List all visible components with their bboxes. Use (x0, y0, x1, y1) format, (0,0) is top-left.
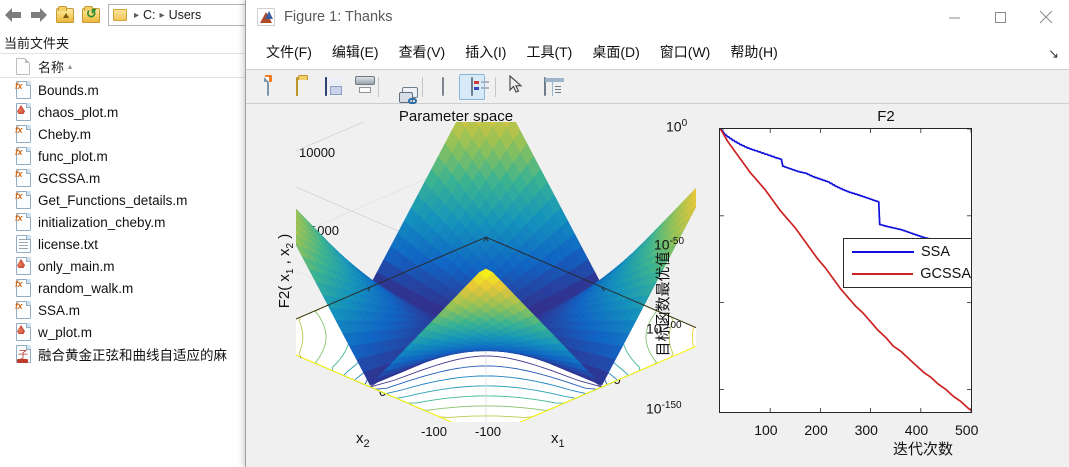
figure-menu-bar: 文件(F)编辑(E)查看(V)插入(I)工具(T)桌面(D)窗口(W)帮助(H)… (246, 34, 1069, 70)
figure-canvas: Parameter space F2( x1 , x2 ) 10000 5000… (246, 104, 1069, 467)
file-name: initialization_cheby.m (38, 215, 165, 230)
legend-entry-ssa: SSA (844, 241, 971, 263)
property-inspector-button[interactable] (532, 74, 558, 100)
matlab-logo-icon (257, 8, 275, 26)
file-name: GCSSA.m (38, 171, 100, 186)
pointer-arrow-icon (509, 75, 523, 99)
list-item[interactable]: license.txt (0, 233, 245, 255)
colorbar-icon (442, 78, 444, 96)
list-item[interactable]: initialization_cheby.m (0, 211, 245, 233)
convergence-title: F2 (716, 108, 1056, 125)
save-figure-button[interactable] (313, 74, 339, 100)
matlab-function-file-icon (16, 81, 31, 99)
surface-zlabel: F2( x1 , x2 ) (276, 176, 296, 366)
list-item[interactable]: func_plot.m (0, 145, 245, 167)
file-name: func_plot.m (38, 149, 108, 164)
refresh-folder-icon[interactable] (78, 2, 104, 28)
file-name: license.txt (38, 237, 98, 252)
list-item[interactable]: chaos_plot.m (0, 101, 245, 123)
matlab-script-file-icon (16, 103, 31, 121)
convergence-xtick-200: 200 (804, 422, 827, 438)
convergence-xlabel: 迭代次数 (818, 438, 1028, 459)
minimize-icon[interactable] (931, 0, 977, 34)
list-item[interactable]: Get_Functions_details.m (0, 189, 245, 211)
toolbar-separator (495, 77, 496, 97)
file-name: only_main.m (38, 259, 115, 274)
list-item[interactable]: only_main.m (0, 255, 245, 277)
list-item[interactable]: 融合黄金正弦和曲线自适应的麻 (0, 343, 245, 365)
file-page-icon (16, 58, 30, 75)
matlab-figure-window: Figure 1: Thanks 文件(F)编辑(E)查看(V)插入(I)工具(… (245, 0, 1069, 467)
open-folder-icon (296, 78, 298, 96)
convergence-xtick-100: 100 (754, 422, 777, 438)
toolbar-separator (422, 77, 423, 97)
forward-arrow-icon[interactable] (26, 2, 52, 28)
legend-entry-gcssa: GCSSA (844, 263, 971, 285)
legend-label-ssa: SSA (921, 244, 950, 260)
convergence-ytick--50: 10-50 (654, 236, 684, 253)
convergence-legend[interactable]: SSA GCSSA (843, 238, 972, 288)
file-explorer-window: ▸ C: ▸ Users 当前文件夹 名称 ▴ Bounds.mchaos_pl… (0, 0, 260, 467)
breadcrumb-drive[interactable]: C: (143, 8, 156, 22)
file-list-column-header[interactable]: 名称 ▴ (0, 55, 245, 77)
toolbar-separator (378, 77, 379, 97)
menu-item-0[interactable]: 文件(F) (256, 42, 322, 62)
surface-plot (296, 122, 696, 422)
save-disk-icon (325, 78, 327, 96)
window-buttons (931, 0, 1069, 34)
menu-item-5[interactable]: 桌面(D) (582, 42, 649, 62)
close-icon[interactable] (1023, 0, 1069, 34)
legend-label-gcssa: GCSSA (920, 266, 971, 282)
file-name: Cheby.m (38, 127, 91, 142)
matlab-script-file-icon (16, 323, 31, 341)
file-list: Bounds.mchaos_plot.mCheby.mfunc_plot.mGC… (0, 79, 245, 365)
explorer-navigation-bar: ▸ C: ▸ Users (0, 0, 260, 30)
convergence-ytick--150: 10-150 (646, 400, 682, 417)
matlab-function-file-icon (16, 169, 31, 187)
edit-plot-button[interactable] (503, 74, 529, 100)
menu-item-2[interactable]: 查看(V) (389, 42, 456, 62)
file-name: Bounds.m (38, 83, 99, 98)
folder-icon (113, 9, 127, 21)
surface-ylabel: x2 (356, 430, 370, 450)
column-header-name: 名称 (38, 57, 64, 76)
menu-item-7[interactable]: 帮助(H) (720, 42, 787, 62)
matlab-function-file-icon (16, 191, 31, 209)
file-name: random_walk.m (38, 281, 133, 296)
divider (0, 53, 245, 54)
breadcrumb-separator: ▸ (160, 10, 165, 21)
file-name: 融合黄金正弦和曲线自适应的麻 (38, 344, 227, 364)
file-name: w_plot.m (38, 325, 92, 340)
new-figure-button[interactable] (255, 74, 281, 100)
new-figure-icon (267, 78, 269, 96)
file-name: Get_Functions_details.m (38, 193, 187, 208)
text-file-icon (16, 235, 31, 253)
convergence-xtick-400: 400 (905, 422, 928, 438)
list-item[interactable]: Bounds.m (0, 79, 245, 101)
list-item[interactable]: SSA.m (0, 299, 245, 321)
matlab-script-file-icon (16, 257, 31, 275)
figure-title-bar[interactable]: Figure 1: Thanks (246, 0, 1069, 34)
legend-line-gcssa (852, 273, 913, 275)
convergence-xtick-300: 300 (855, 422, 878, 438)
breadcrumb-separator: ▸ (134, 10, 139, 21)
up-folder-icon[interactable] (52, 2, 78, 28)
surface-xtick--100: -100 (475, 424, 501, 439)
list-item[interactable]: w_plot.m (0, 321, 245, 343)
list-item[interactable]: GCSSA.m (0, 167, 245, 189)
back-arrow-icon[interactable] (0, 2, 26, 28)
figure-title: Figure 1: Thanks (284, 9, 393, 25)
sort-ascending-icon: ▴ (68, 62, 72, 71)
menu-item-3[interactable]: 插入(I) (455, 42, 516, 62)
open-file-button[interactable] (284, 74, 310, 100)
menu-item-4[interactable]: 工具(T) (516, 42, 582, 62)
surface-ytick--100: -100 (421, 424, 447, 439)
menu-item-1[interactable]: 编辑(E) (322, 42, 389, 62)
legend-button[interactable] (459, 74, 485, 100)
current-folder-label: 当前文件夹 (0, 30, 260, 54)
address-bar[interactable]: ▸ C: ▸ Users (108, 4, 260, 26)
matlab-function-file-icon (16, 147, 31, 165)
convergence-ytick-0: 100 (666, 118, 687, 135)
file-name: SSA.m (38, 303, 80, 318)
convergence-ytick--100: 10-100 (646, 320, 682, 337)
link-plot-button[interactable] (386, 74, 412, 100)
document-file-icon (16, 345, 31, 363)
matlab-function-file-icon (16, 301, 31, 319)
property-inspector-icon (544, 78, 546, 96)
menu-item-6[interactable]: 窗口(W) (650, 42, 721, 62)
convergence-xtick-500: 500 (955, 422, 978, 438)
list-item[interactable]: Cheby.m (0, 123, 245, 145)
convergence-ylabel: 目标函数最优值 (652, 204, 673, 404)
matlab-function-file-icon (16, 213, 31, 231)
colorbar-button[interactable] (430, 74, 456, 100)
matlab-function-file-icon (16, 279, 31, 297)
expand-arrow-icon[interactable]: ↘ (1048, 46, 1059, 62)
figure-toolbar (246, 70, 1069, 104)
surface-xlabel: x1 (551, 430, 565, 450)
matlab-function-file-icon (16, 125, 31, 143)
file-name: chaos_plot.m (38, 105, 118, 120)
breadcrumb-users[interactable]: Users (169, 8, 202, 22)
legend-icon (471, 78, 473, 96)
maximize-icon[interactable] (977, 0, 1023, 34)
list-item[interactable]: random_walk.m (0, 277, 245, 299)
print-figure-button[interactable] (342, 74, 368, 100)
divider (0, 77, 245, 78)
legend-line-ssa (852, 251, 914, 253)
